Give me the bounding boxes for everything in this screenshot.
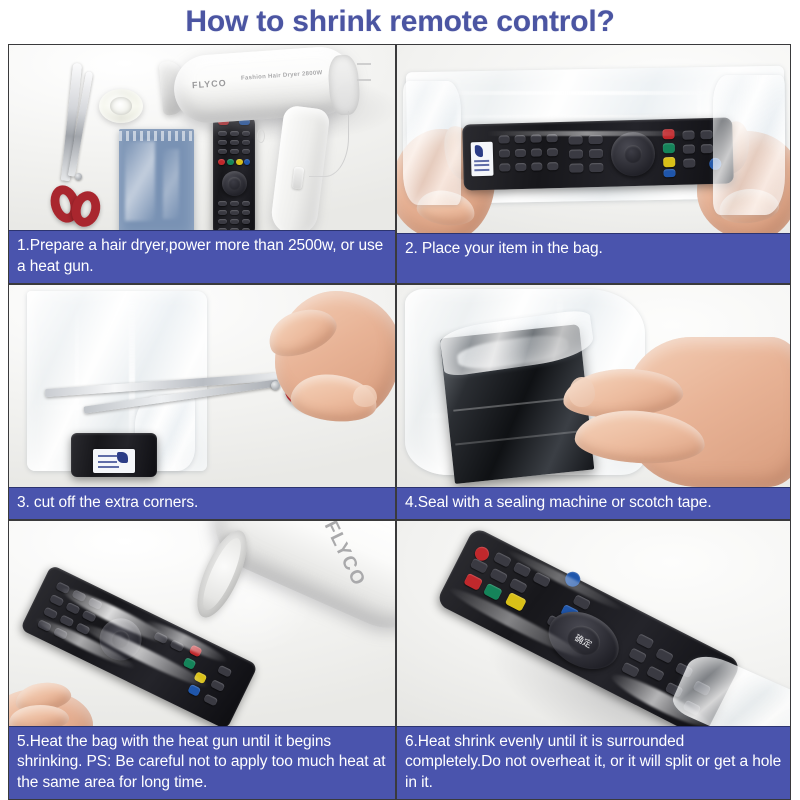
sticker-line [474, 169, 489, 171]
scissors-pivot [75, 173, 82, 180]
keypad-button [230, 201, 239, 206]
step-photo-4 [397, 285, 790, 487]
keypad-button [230, 228, 239, 230]
keypad-button [499, 163, 510, 171]
step-caption-1: 1.Prepare a hair dryer,power more than 2… [9, 230, 395, 283]
keypad-button [218, 228, 227, 230]
keypad-button [636, 633, 655, 649]
remote-control [462, 117, 734, 190]
bag-sheen [125, 141, 155, 221]
finger-nail [569, 377, 595, 407]
blue-shrink-bag [119, 129, 194, 230]
step-card-4: 4.Seal with a sealing machine or scotch … [396, 284, 791, 520]
bag-fold-left [403, 81, 461, 205]
color-button-green [483, 583, 503, 601]
keypad-button [547, 162, 558, 170]
keypad-button [589, 135, 603, 144]
keypad-button [569, 135, 583, 144]
keypad-button [499, 149, 510, 157]
step-card-6: 确定 6. [396, 520, 791, 800]
keypad-button [242, 219, 250, 224]
bag-seam [119, 131, 194, 141]
color-button-red [463, 573, 483, 591]
step-card-1: FLYCO Fashion Hair Dryer 2800W 1.Prepare… [8, 44, 396, 284]
keypad-button [43, 607, 58, 620]
step-caption-5: 5.Heat the bag with the heat gun until i… [9, 726, 395, 799]
sticker-logo [117, 452, 128, 463]
keypad-button [203, 694, 218, 707]
keypad-button [230, 140, 239, 145]
sticker-line [474, 164, 489, 166]
steps-grid: FLYCO Fashion Hair Dryer 2800W 1.Prepare… [8, 44, 791, 800]
keypad-button [218, 201, 227, 206]
keypad-button [628, 647, 647, 663]
keypad-button [547, 148, 558, 156]
color-button-red [218, 159, 225, 165]
sticker-logo [474, 145, 483, 157]
color-button-green [663, 143, 675, 153]
color-button-green [227, 159, 234, 165]
keypad-button [470, 558, 489, 574]
keypad-button [509, 578, 528, 594]
color-button-blue [244, 159, 250, 165]
thumb-nail [353, 385, 377, 407]
keypad-button [218, 219, 227, 224]
keypad-button [218, 210, 227, 215]
tape-roll-hole [110, 97, 132, 115]
keypad-button [531, 148, 542, 156]
keypad-button [242, 228, 250, 230]
sticker-line [474, 160, 489, 162]
keypad-button [242, 210, 250, 215]
remote-sticker [93, 449, 135, 473]
keypad-button [646, 665, 665, 681]
ok-button-label: 确定 [573, 630, 595, 650]
keypad-button [531, 162, 542, 170]
keypad-button [218, 140, 227, 145]
sticker-line [98, 466, 119, 468]
keypad-button [701, 144, 713, 153]
keypad-button [514, 135, 525, 143]
step-card-3: 3. cut off the extra corners. [8, 284, 396, 520]
keypad-button [217, 665, 232, 678]
keypad-button [230, 210, 239, 215]
infographic-page: How to shrink remote control? [0, 0, 800, 800]
color-button-yellow [236, 159, 243, 165]
keypad-button [569, 163, 583, 172]
step-photo-6: 确定 [397, 521, 790, 726]
keypad-button [655, 648, 674, 664]
step-caption-3: 3. cut off the extra corners. [9, 487, 395, 519]
keypad-button [515, 163, 526, 171]
bag-crease-front [487, 131, 687, 136]
keypad-button [700, 130, 712, 139]
keypad-button [683, 144, 695, 153]
sticker-line [98, 455, 118, 457]
keypad-button [230, 149, 239, 154]
step-caption-4: 4.Seal with a sealing machine or scotch … [397, 487, 790, 519]
sticker-line [98, 461, 116, 463]
keypad-button [498, 135, 509, 143]
keypad-button [49, 594, 64, 607]
bag-fold-right [713, 75, 785, 215]
keypad-button [230, 219, 239, 224]
keypad-button [489, 568, 508, 584]
keypad-button [569, 149, 583, 158]
color-button-yellow [663, 157, 675, 167]
keypad-button [683, 158, 695, 167]
dryer-buttons [357, 63, 373, 97]
step-photo-5: FLYCO [9, 521, 395, 726]
keypad-button [210, 679, 225, 692]
bag-sheen-2 [163, 149, 179, 219]
keypad-button [218, 149, 227, 154]
step-photo-3 [9, 285, 395, 487]
keypad-button [589, 163, 603, 172]
step-caption-2: 2. Place your item in the bag. [397, 233, 790, 283]
step-card-5: FLYCO 5.Heat the bag with the heat gun u… [8, 520, 396, 800]
keypad-button [515, 149, 526, 157]
color-button-yellow [505, 592, 527, 612]
remote-sticker [471, 142, 494, 177]
step-card-2: 2. Place your item in the bag. [396, 44, 791, 284]
color-button-blue [663, 169, 675, 177]
remote-control [71, 433, 157, 477]
keypad-button [242, 201, 250, 206]
step-photo-2 [397, 45, 790, 233]
step-caption-6: 6.Heat shrink evenly until it is surroun… [397, 726, 790, 799]
step-photo-1: FLYCO Fashion Hair Dryer 2800W [9, 45, 395, 230]
keypad-button [589, 149, 603, 158]
ok-button [228, 177, 241, 190]
keypad-button [242, 149, 250, 154]
page-title: How to shrink remote control? [0, 0, 800, 44]
dryer-hanging-loop [257, 129, 265, 143]
